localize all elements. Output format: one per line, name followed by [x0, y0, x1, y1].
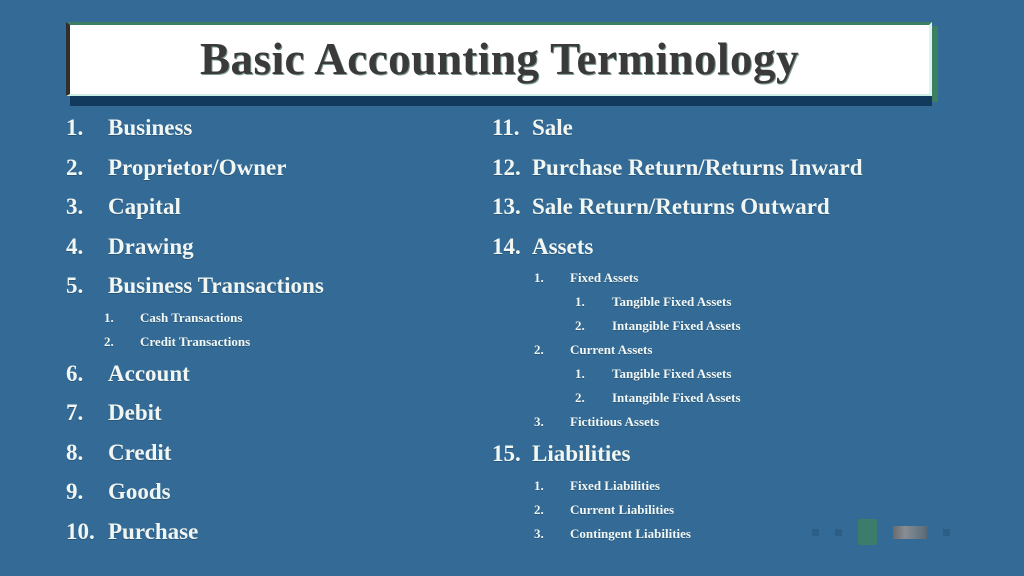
list-item-label: Debit: [108, 393, 486, 433]
sub-sub-list-item-label: Intangible Fixed Assets: [612, 386, 962, 410]
sub-list-item-number: 2.: [534, 338, 570, 362]
watermark-wordmark: [893, 526, 927, 539]
list-item[interactable]: 1. Business: [66, 108, 486, 148]
list-item-label: Account: [108, 354, 486, 394]
list-item-label: Proprietor/Owner: [108, 148, 486, 188]
watermark: [812, 518, 952, 546]
sub-list-item-number: 2.: [104, 330, 140, 354]
list-item-number: 9.: [66, 472, 108, 512]
sub-list-item-number: 2.: [534, 498, 570, 522]
list-item-number: 11.: [492, 108, 532, 148]
sub-list-item-label: Cash Transactions: [140, 306, 486, 330]
list-item-number: 14.: [492, 227, 532, 267]
list-item[interactable]: 4. Drawing: [66, 227, 486, 267]
list-item-number: 12.: [492, 148, 532, 188]
left-column: 1. Business 2. Proprietor/Owner 3. Capit…: [66, 108, 486, 551]
list-item[interactable]: 10. Purchase: [66, 512, 486, 552]
list-item-label: Sale Return/Returns Outward: [532, 187, 962, 227]
page-title: Basic Accounting Terminology: [200, 37, 799, 82]
sub-list-item[interactable]: 1. Fixed Assets: [492, 266, 962, 290]
list-item[interactable]: 8. Credit: [66, 433, 486, 473]
sub-list-item-label: Current Assets: [570, 338, 962, 362]
list-item-number: 1.: [66, 108, 108, 148]
sub-sub-list-item-number: 1.: [575, 362, 612, 386]
list-item[interactable]: 7. Debit: [66, 393, 486, 433]
list-item[interactable]: 5. Business Transactions: [66, 266, 486, 306]
list-item[interactable]: 13. Sale Return/Returns Outward: [492, 187, 962, 227]
sub-list-item[interactable]: 2. Current Assets: [492, 338, 962, 362]
list-item-label: Business Transactions: [108, 266, 486, 306]
sub-sub-list-item-number: 1.: [575, 290, 612, 314]
sub-sub-list-item[interactable]: 2. Intangible Fixed Assets: [492, 314, 962, 338]
list-item-label: Credit: [108, 433, 486, 473]
sub-sub-list-item[interactable]: 1. Tangible Fixed Assets: [492, 290, 962, 314]
list-item-label: Purchase: [108, 512, 486, 552]
sub-sub-list-item[interactable]: 2. Intangible Fixed Assets: [492, 386, 962, 410]
sub-sub-list-item-label: Tangible Fixed Assets: [612, 290, 962, 314]
watermark-dot-icon: [835, 529, 842, 536]
list-item-label: Drawing: [108, 227, 486, 267]
watermark-dot-icon: [812, 529, 819, 536]
sub-sub-list-item-label: Intangible Fixed Assets: [612, 314, 962, 338]
list-item[interactable]: 3. Capital: [66, 187, 486, 227]
sub-list-item-number: 3.: [534, 522, 570, 546]
list-item-label: Assets: [532, 227, 962, 267]
list-item[interactable]: 12. Purchase Return/Returns Inward: [492, 148, 962, 188]
sub-list-item-number: 3.: [534, 410, 570, 434]
list-item-number: 3.: [66, 187, 108, 227]
right-column: 11. Sale 12. Purchase Return/Returns Inw…: [492, 108, 962, 546]
list-item-number: 2.: [66, 148, 108, 188]
list-item-label: Goods: [108, 472, 486, 512]
list-item-number: 8.: [66, 433, 108, 473]
list-item-number: 10.: [66, 512, 108, 552]
list-item-number: 6.: [66, 354, 108, 394]
sub-sub-list-item[interactable]: 1. Tangible Fixed Assets: [492, 362, 962, 386]
list-item-number: 4.: [66, 227, 108, 267]
list-item-label: Business: [108, 108, 486, 148]
sub-list-item-label: Fixed Assets: [570, 266, 962, 290]
sub-sub-list-item-number: 2.: [575, 314, 612, 338]
list-item[interactable]: 14. Assets: [492, 227, 962, 267]
sub-list-item-number: 1.: [534, 474, 570, 498]
sub-list-item-label: Credit Transactions: [140, 330, 486, 354]
sub-list-item-number: 1.: [104, 306, 140, 330]
sub-list-item-label: Fictitious Assets: [570, 410, 962, 434]
sub-list-item-label: Fixed Liabilities: [570, 474, 962, 498]
watermark-dot-icon: [943, 529, 950, 536]
list-item[interactable]: 11. Sale: [492, 108, 962, 148]
list-item-number: 7.: [66, 393, 108, 433]
sub-list-item[interactable]: 2. Credit Transactions: [66, 330, 486, 354]
list-item[interactable]: 2. Proprietor/Owner: [66, 148, 486, 188]
sub-sub-list-item-number: 2.: [575, 386, 612, 410]
list-item[interactable]: 15. Liabilities: [492, 434, 962, 474]
list-item-label: Purchase Return/Returns Inward: [532, 148, 962, 188]
sub-sub-list-item-label: Tangible Fixed Assets: [612, 362, 962, 386]
sub-list-item-number: 1.: [534, 266, 570, 290]
slide-canvas: Basic Accounting Terminology 1. Business…: [0, 0, 1024, 576]
watermark-logo-icon: [858, 519, 877, 545]
sub-list-item[interactable]: 1. Fixed Liabilities: [492, 474, 962, 498]
list-item-label: Liabilities: [532, 434, 962, 474]
sub-list-item[interactable]: 1. Cash Transactions: [66, 306, 486, 330]
list-item-number: 13.: [492, 187, 532, 227]
list-item[interactable]: 9. Goods: [66, 472, 486, 512]
list-item[interactable]: 6. Account: [66, 354, 486, 394]
list-item-label: Sale: [532, 108, 962, 148]
list-item-number: 15.: [492, 434, 532, 474]
list-item-label: Capital: [108, 187, 486, 227]
list-item-number: 5.: [66, 266, 108, 306]
title-box: Basic Accounting Terminology: [66, 22, 932, 96]
sub-list-item[interactable]: 3. Fictitious Assets: [492, 410, 962, 434]
